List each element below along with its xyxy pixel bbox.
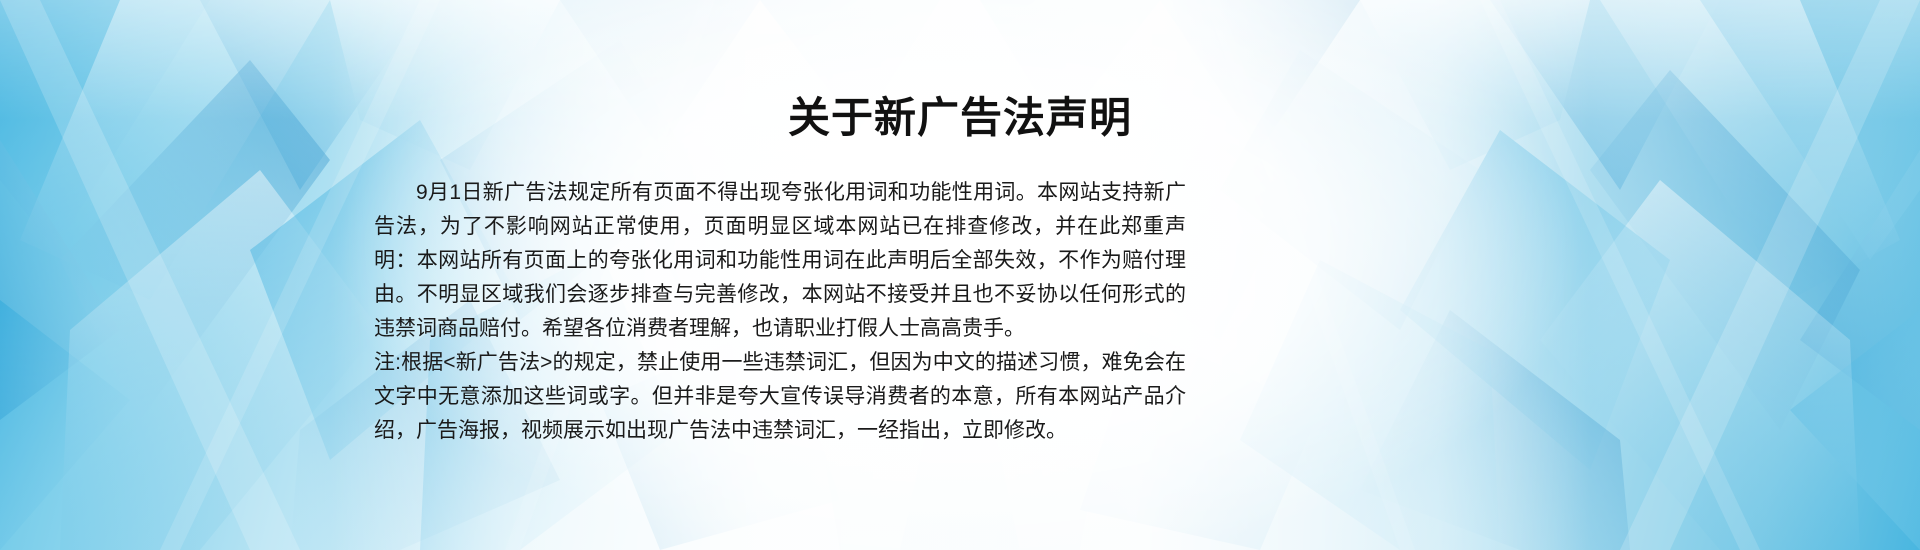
statement-paragraph-note: 注:根据<新广告法>的规定，禁止使用一些违禁词汇，但因为中文的描述习惯，难免会在… (374, 346, 1186, 448)
statement-paragraph-main: 9月1日新广告法规定所有页面不得出现夸张化用词和功能性用词。本网站支持新广告法，… (374, 176, 1186, 346)
statement-content: 关于新广告法声明 9月1日新广告法规定所有页面不得出现夸张化用词和功能性用词。本… (0, 0, 1920, 550)
statement-body: 9月1日新广告法规定所有页面不得出现夸张化用词和功能性用词。本网站支持新广告法，… (374, 176, 1186, 448)
advertising-law-statement-banner: 关于新广告法声明 9月1日新广告法规定所有页面不得出现夸张化用词和功能性用词。本… (0, 0, 1920, 550)
page-title: 关于新广告法声明 (0, 92, 1920, 144)
